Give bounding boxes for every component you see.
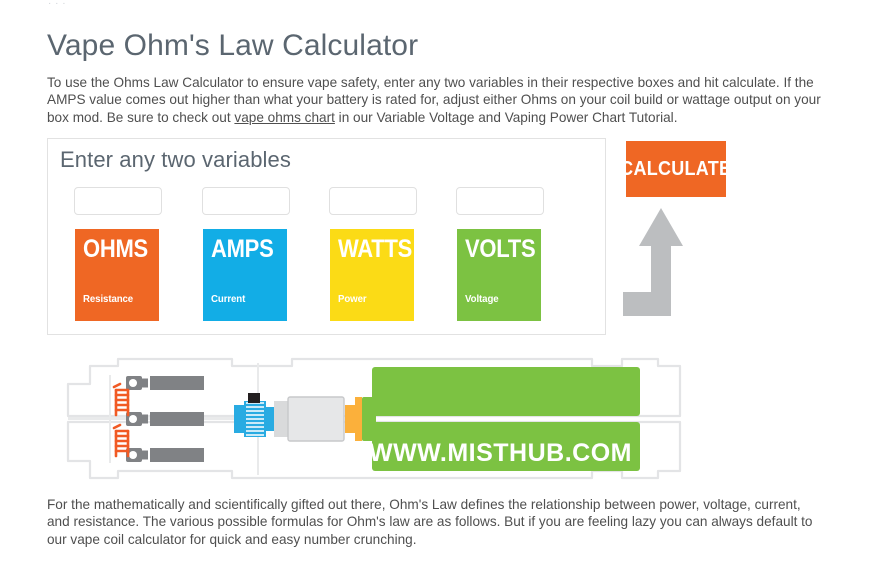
calculate-button[interactable]: CALCULATE xyxy=(626,141,726,197)
variable-card-title: VOLTS xyxy=(465,236,532,263)
volts-input[interactable] xyxy=(456,187,544,215)
variable-card-subtitle: Current xyxy=(211,293,245,305)
calculator-panel: Enter any two variables OHMS Resistance … xyxy=(47,138,606,335)
ohms-input[interactable] xyxy=(74,187,162,215)
watts-input[interactable] xyxy=(329,187,417,215)
outro-paragraph: For the mathematically and scientificall… xyxy=(47,496,822,549)
amps-input[interactable] xyxy=(202,187,290,215)
variable-card-title: AMPS xyxy=(211,236,278,263)
green-panel-top xyxy=(372,367,640,416)
page-root: · · · Vape Ohm's Law Calculator To use t… xyxy=(0,0,875,573)
calculate-button-label: CALCULATE xyxy=(620,158,731,181)
variable-card-volts: VOLTS Voltage xyxy=(457,229,541,321)
battery-body xyxy=(274,397,344,441)
calculator-heading: Enter any two variables xyxy=(60,147,291,173)
variable-card-watts: WATTS Power xyxy=(330,229,414,321)
variable-cards-row: OHMS Resistance AMPS Current WATTS Power… xyxy=(48,229,607,323)
vape-ohms-chart-link[interactable]: vape ohms chart xyxy=(234,110,335,125)
banner-watermark: WWW.MISTHUB.COM xyxy=(369,439,632,467)
intro-text-after-link: in our Variable Voltage and Vaping Power… xyxy=(335,110,678,125)
variable-card-title: OHMS xyxy=(83,236,150,263)
variable-card-subtitle: Power xyxy=(338,293,367,305)
inputs-row xyxy=(48,187,607,217)
page-title: Vape Ohm's Law Calculator xyxy=(47,28,418,64)
variable-card-ohms: OHMS Resistance xyxy=(75,229,159,321)
breadcrumb: · · · xyxy=(48,0,66,6)
contact-posts xyxy=(126,376,204,462)
variable-card-title: WATTS xyxy=(338,236,405,263)
variable-card-amps: AMPS Current xyxy=(203,229,287,321)
intro-paragraph: To use the Ohms Law Calculator to ensure… xyxy=(47,74,822,127)
misthub-schematic-banner: WWW.MISTHUB.COM xyxy=(62,357,686,481)
arrow-up-elbow-icon xyxy=(620,208,700,330)
variable-card-subtitle: Resistance xyxy=(83,293,133,305)
variable-card-subtitle: Voltage xyxy=(465,293,499,305)
